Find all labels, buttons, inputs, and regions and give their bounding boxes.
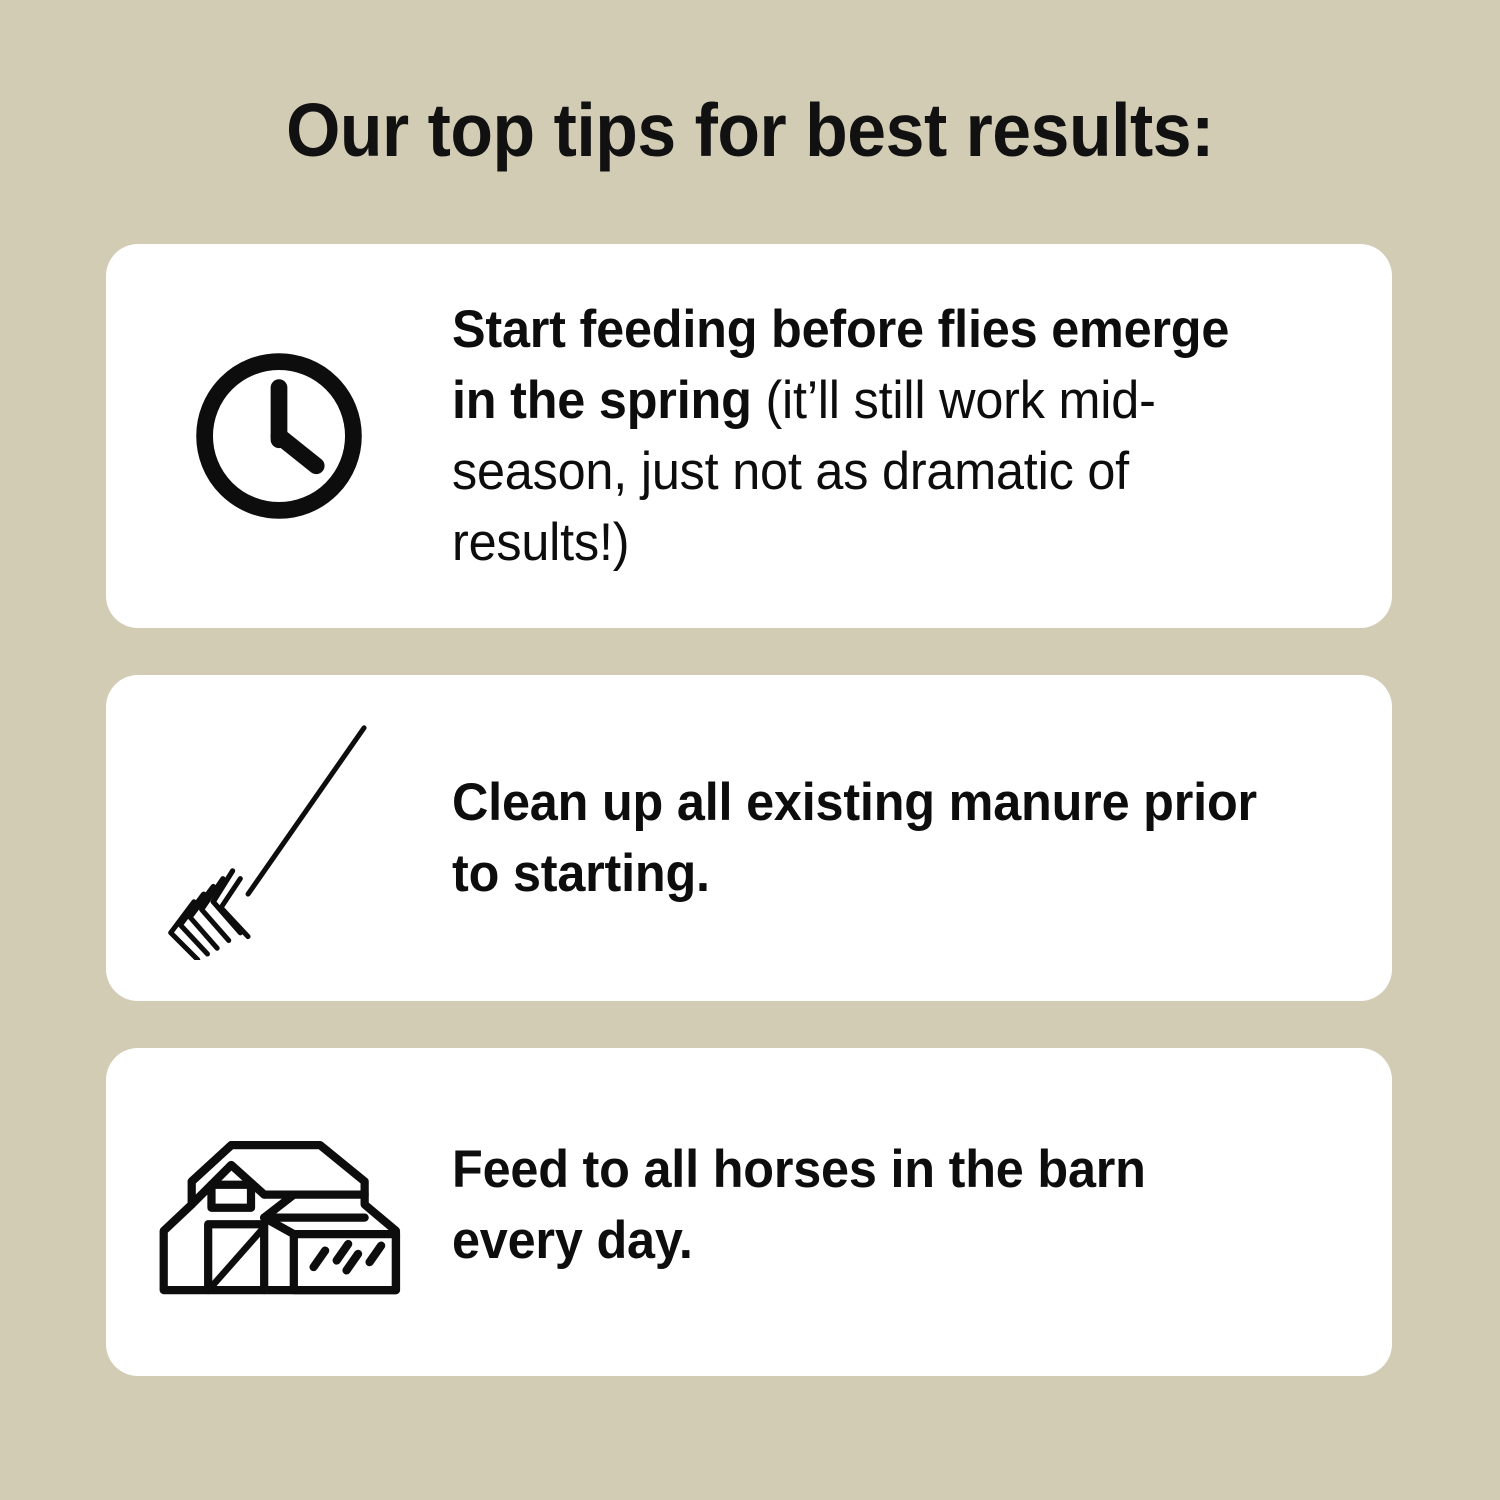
pitchfork-icon (163, 716, 395, 960)
tip-card-2-text: Clean up all existing manure prior to st… (452, 767, 1345, 909)
tip-card-2-bold: Clean up all existing manure prior to st… (452, 773, 1257, 903)
tip-card-3-bold: Feed to all horses in the barn every day… (452, 1140, 1146, 1270)
tip-card-3-text: Feed to all horses in the barn every day… (452, 1048, 1345, 1276)
tip-card-2-icon-wrap (106, 675, 452, 1001)
tip-card-1: Start feeding before flies emerge in the… (106, 244, 1392, 628)
tip-card-1-text: Start feeding before flies emerge in the… (452, 294, 1345, 578)
tip-card-3: Feed to all horses in the barn every day… (106, 1048, 1392, 1376)
tip-card-3-icon-wrap (106, 1048, 452, 1376)
clock-icon (186, 343, 372, 529)
tips-graphic: Our top tips for best results: Start fee… (0, 0, 1500, 1500)
tip-card-1-icon-wrap (106, 244, 452, 628)
page-title: Our top tips for best results: (53, 86, 1448, 174)
barn-icon (155, 1132, 403, 1300)
tip-card-2: Clean up all existing manure prior to st… (106, 675, 1392, 1001)
